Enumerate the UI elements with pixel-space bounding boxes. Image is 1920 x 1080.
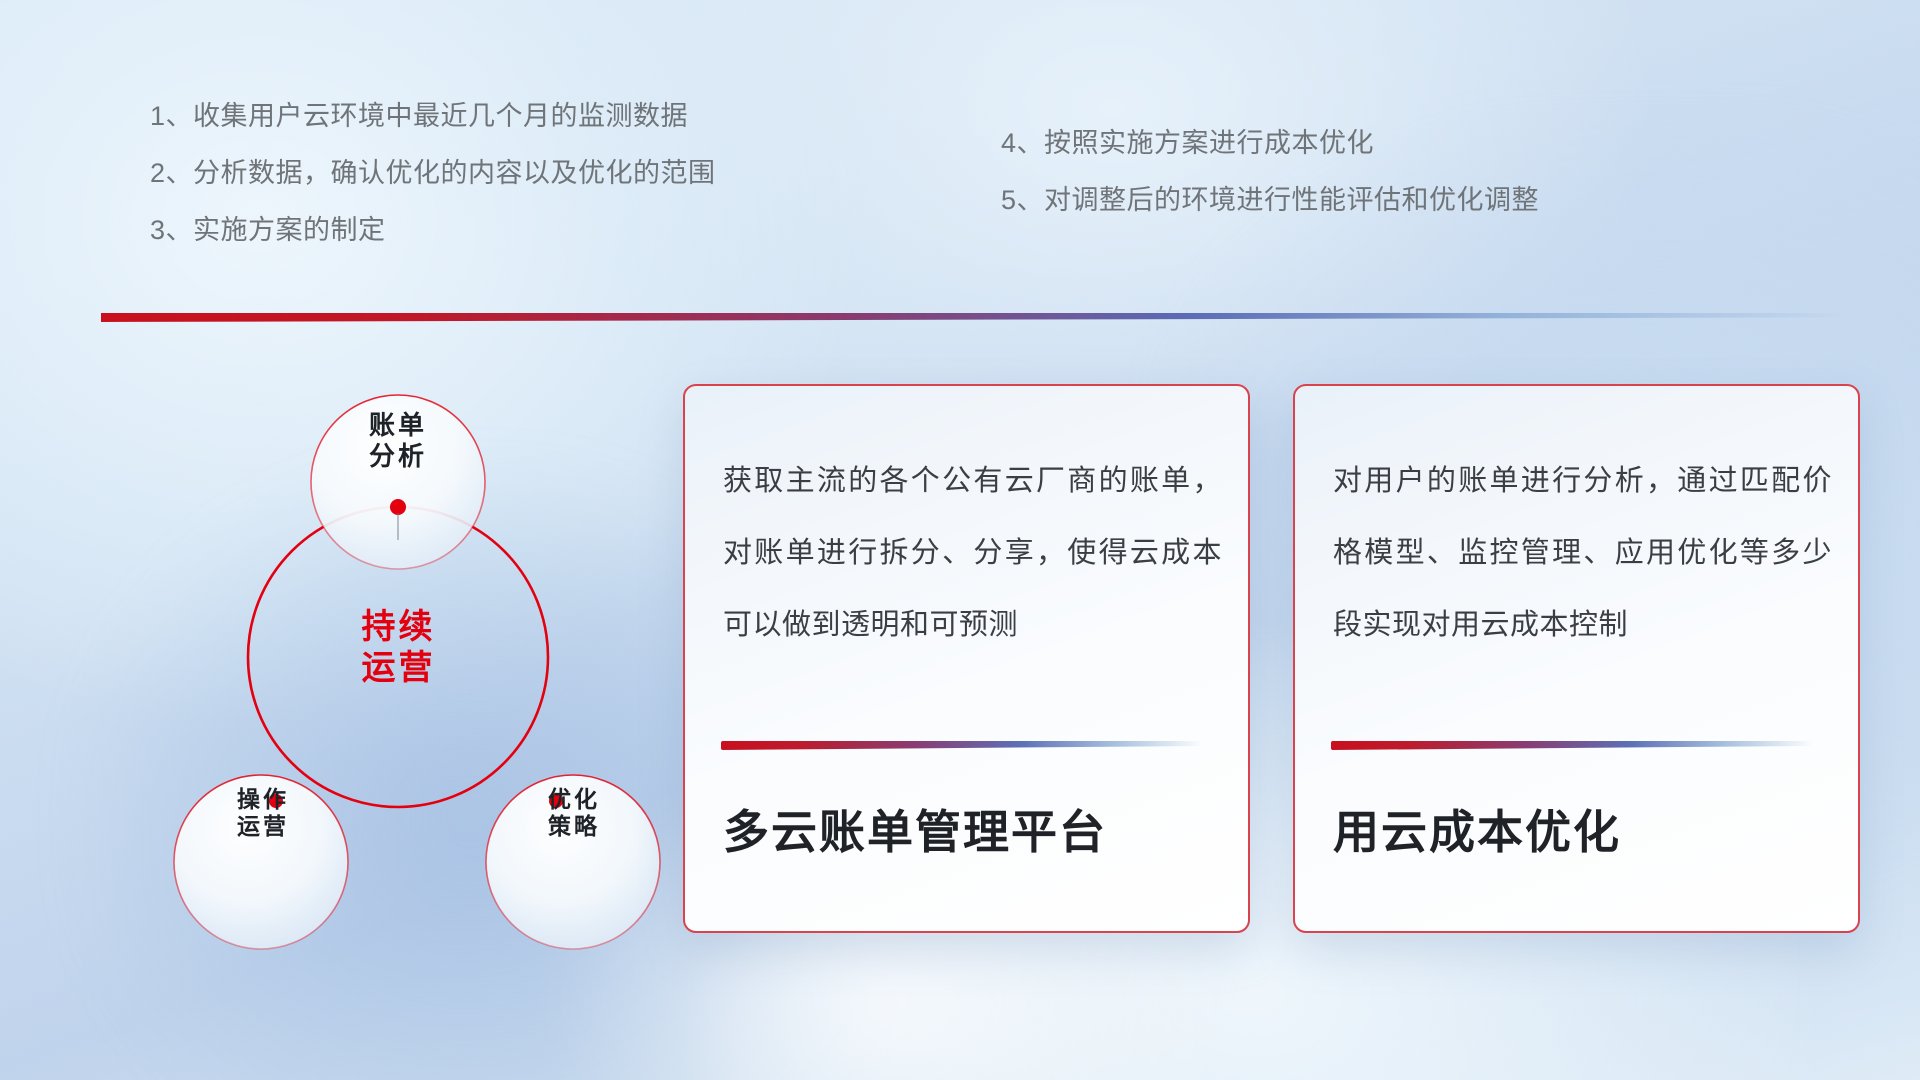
- step-item-5: 5、对调整后的环境进行性能评估和优化调整: [1001, 187, 1539, 214]
- venn-node-top: [390, 499, 406, 515]
- card-rule: [1331, 741, 1813, 750]
- card-title: 多云账单管理平台: [723, 796, 1107, 862]
- slide-canvas: 1、收集用户云环境中最近几个月的监测数据 2、分析数据，确认优化的内容以及优化的…: [0, 0, 1920, 1080]
- step-item-1: 1、收集用户云环境中最近几个月的监测数据: [150, 103, 716, 130]
- venn-label-center: 持续 运营: [311, 607, 486, 690]
- card-body-text: 获取主流的各个公有云厂商的账单，对账单进行拆分、分享，使得云成本可以做到透明和可…: [723, 446, 1222, 662]
- divider-bar: [101, 313, 1851, 322]
- steps-right-column: 4、按照实施方案进行成本优化 5、对调整后的环境进行性能评估和优化调整: [1001, 130, 1539, 214]
- card-cloud-cost-optimization[interactable]: 对用户的账单进行分析，通过匹配价格模型、监控管理、应用优化等多少段实现对用云成本…: [1293, 384, 1860, 933]
- steps-left-column: 1、收集用户云环境中最近几个月的监测数据 2、分析数据，确认优化的内容以及优化的…: [150, 103, 716, 244]
- card-body-text: 对用户的账单进行分析，通过匹配价格模型、监控管理、应用优化等多少段实现对用云成本…: [1333, 446, 1832, 662]
- venn-label-left: 操作 运营: [183, 786, 343, 840]
- step-item-2: 2、分析数据，确认优化的内容以及优化的范围: [150, 160, 716, 187]
- venn-diagram: 账单 分析 操作 运营 优化 策略 持续 运营: [96, 352, 636, 952]
- step-item-4: 4、按照实施方案进行成本优化: [1001, 130, 1539, 157]
- card-multicloud-billing[interactable]: 获取主流的各个公有云厂商的账单，对账单进行拆分、分享，使得云成本可以做到透明和可…: [683, 384, 1250, 933]
- venn-label-top: 账单 分析: [318, 410, 478, 471]
- step-item-3: 3、实施方案的制定: [150, 217, 716, 244]
- venn-label-right: 优化 策略: [494, 786, 654, 840]
- card-title: 用云成本优化: [1333, 796, 1621, 862]
- card-rule: [721, 741, 1203, 750]
- section-divider: [101, 313, 1851, 322]
